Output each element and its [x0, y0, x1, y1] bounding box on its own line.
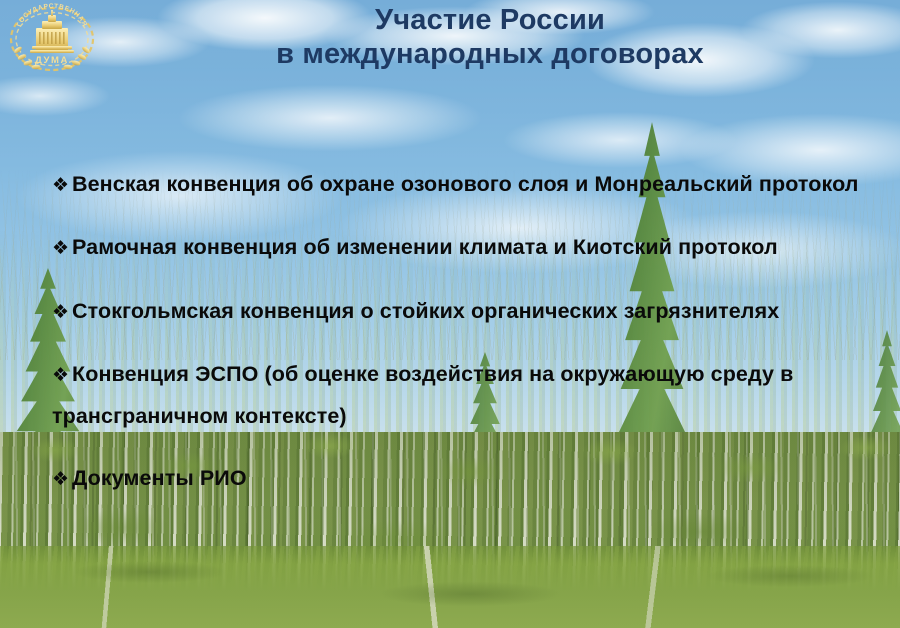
bullet-item-5-text: Документы РИО — [72, 466, 247, 490]
slide-title: Участие России в международных договорах — [110, 0, 870, 71]
bullet-item-4: ❖Конвенция ЭСПО (об оценке воздействия н… — [52, 354, 860, 436]
title-line-1: Участие России — [110, 4, 870, 36]
emblem-base-text: ДУМА — [35, 55, 69, 66]
four-point-diamond-bullet-icon: ❖ — [52, 356, 72, 396]
bullet-item-1: ❖Венская конвенция об охране озонового с… — [52, 164, 860, 206]
bullet-item-3-text: Стокгольмская конвенция о стойких органи… — [72, 299, 779, 323]
duma-building-icon — [30, 10, 74, 53]
bullet-item-2: ❖Рамочная конвенция об изменении климата… — [52, 227, 860, 269]
four-point-diamond-bullet-icon: ❖ — [52, 293, 72, 333]
state-duma-emblem-logo: ГОСУДАРСТВЕННАЯ ДУМА — [6, 2, 98, 76]
bullet-list: ❖Венская конвенция об охране озонового с… — [52, 142, 860, 506]
four-point-diamond-bullet-icon: ❖ — [52, 460, 72, 500]
bullet-item-3: ❖Стокгольмская конвенция о стойких орган… — [52, 291, 860, 333]
bullet-item-1-text: Венская конвенция об охране озонового сл… — [72, 172, 859, 196]
title-line-2: в международных договорах — [110, 38, 870, 70]
bullet-item-5: ❖Документы РИО — [52, 458, 860, 500]
four-point-diamond-bullet-icon: ❖ — [52, 166, 72, 206]
bullet-item-4-text: Конвенция ЭСПО (об оценке воздействия на… — [52, 362, 793, 428]
presentation-slide: ГОСУДАРСТВЕННАЯ ДУМА Участие России в ме… — [0, 0, 900, 628]
four-point-diamond-bullet-icon: ❖ — [52, 229, 72, 269]
bullet-item-2-text: Рамочная конвенция об изменении климата … — [72, 235, 778, 259]
